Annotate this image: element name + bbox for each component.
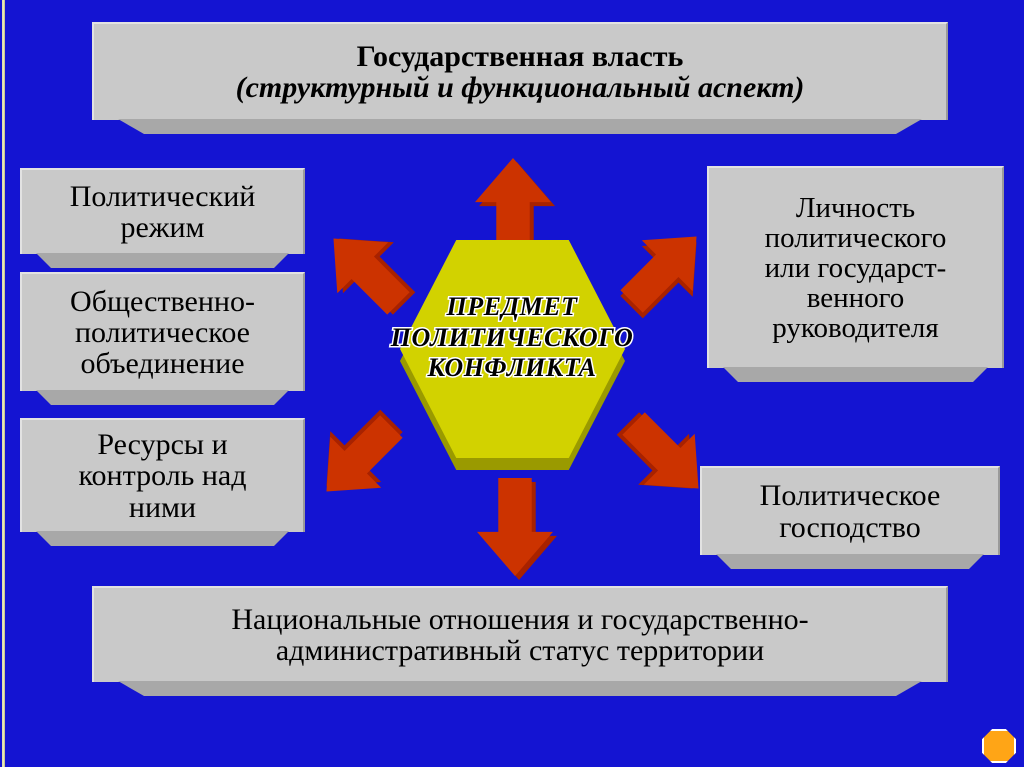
box-social-political-union-face: Общественно- политическое объединение [20, 272, 305, 391]
title-box-face: Государственная власть (структурный и фу… [92, 22, 948, 120]
box-resources-control-line-2: контроль над [79, 460, 247, 491]
box-resources-control-shadow [36, 531, 289, 546]
box-social-political-union-shadow [36, 390, 289, 405]
box-political-regime-line-1: Политический [70, 181, 256, 212]
slide-canvas: Государственная власть (структурный и фу… [0, 0, 1024, 767]
left-edge-rule [2, 0, 5, 767]
arrow-down-top [477, 478, 553, 576]
box-political-regime: Политический режим [20, 168, 305, 268]
corner-octagon-icon [982, 729, 1016, 763]
box-social-political-union: Общественно- политическое объединение [20, 272, 305, 405]
title-box-shadow [118, 119, 922, 134]
box-national-relations: Национальные отношения и государственно-… [92, 586, 948, 696]
central-hexagon-line-2: ПОЛИТИЧЕСКОГО [362, 323, 662, 354]
box-social-political-union-line-1: Общественно- [70, 286, 255, 317]
box-national-relations-face: Национальные отношения и государственно-… [92, 586, 948, 682]
box-political-domination-face: Политическое господство [700, 466, 1000, 555]
box-political-leader-personality-face: Личность политического или государст- ве… [707, 166, 1004, 368]
box-political-regime-face: Политический режим [20, 168, 305, 254]
box-political-domination-shadow [716, 554, 984, 569]
title-line-1: Государственная власть [236, 41, 805, 72]
title-line-2: (структурный и функциональный аспект) [236, 72, 805, 103]
box-political-leader-personality-line-4: венного [765, 283, 947, 313]
box-political-leader-personality-line-3: или государст- [765, 253, 947, 283]
central-hexagon-line-3: КОНФЛИКТА [362, 353, 662, 384]
title-box: Государственная власть (структурный и фу… [92, 22, 948, 134]
box-national-relations-line-1: Национальные отношения и государственно- [231, 604, 808, 635]
central-hexagon-label: ПРЕДМЕТ ПОЛИТИЧЕСКОГО КОНФЛИКТА [362, 292, 662, 384]
box-political-leader-personality-line-1: Личность [765, 193, 947, 223]
box-resources-control-line-3: ними [79, 492, 247, 523]
box-resources-control-line-1: Ресурсы и [79, 429, 247, 460]
box-national-relations-shadow [118, 681, 922, 696]
box-political-regime-shadow [36, 253, 289, 268]
central-hexagon-line-1: ПРЕДМЕТ [362, 292, 662, 323]
box-political-domination: Политическое господство [700, 466, 1000, 569]
box-social-political-union-line-2: политическое [70, 317, 255, 348]
box-political-leader-personality-line-2: политического [765, 223, 947, 253]
box-political-domination-line-2: господство [760, 512, 941, 543]
arrow-down-icon [477, 478, 553, 576]
box-national-relations-line-2: административный статус территории [231, 635, 808, 666]
box-political-leader-personality-line-5: руководителя [765, 313, 947, 343]
box-political-leader-personality-shadow [723, 367, 988, 382]
box-resources-control-face: Ресурсы и контроль над ними [20, 418, 305, 532]
box-political-leader-personality: Личность политического или государст- ве… [707, 166, 1004, 382]
box-political-domination-line-1: Политическое [760, 480, 941, 511]
box-resources-control: Ресурсы и контроль над ними [20, 418, 305, 546]
box-political-regime-line-2: режим [70, 212, 256, 243]
central-hexagon: ПРЕДМЕТ ПОЛИТИЧЕСКОГО КОНФЛИКТА [400, 240, 625, 470]
box-social-political-union-line-3: объединение [70, 348, 255, 379]
